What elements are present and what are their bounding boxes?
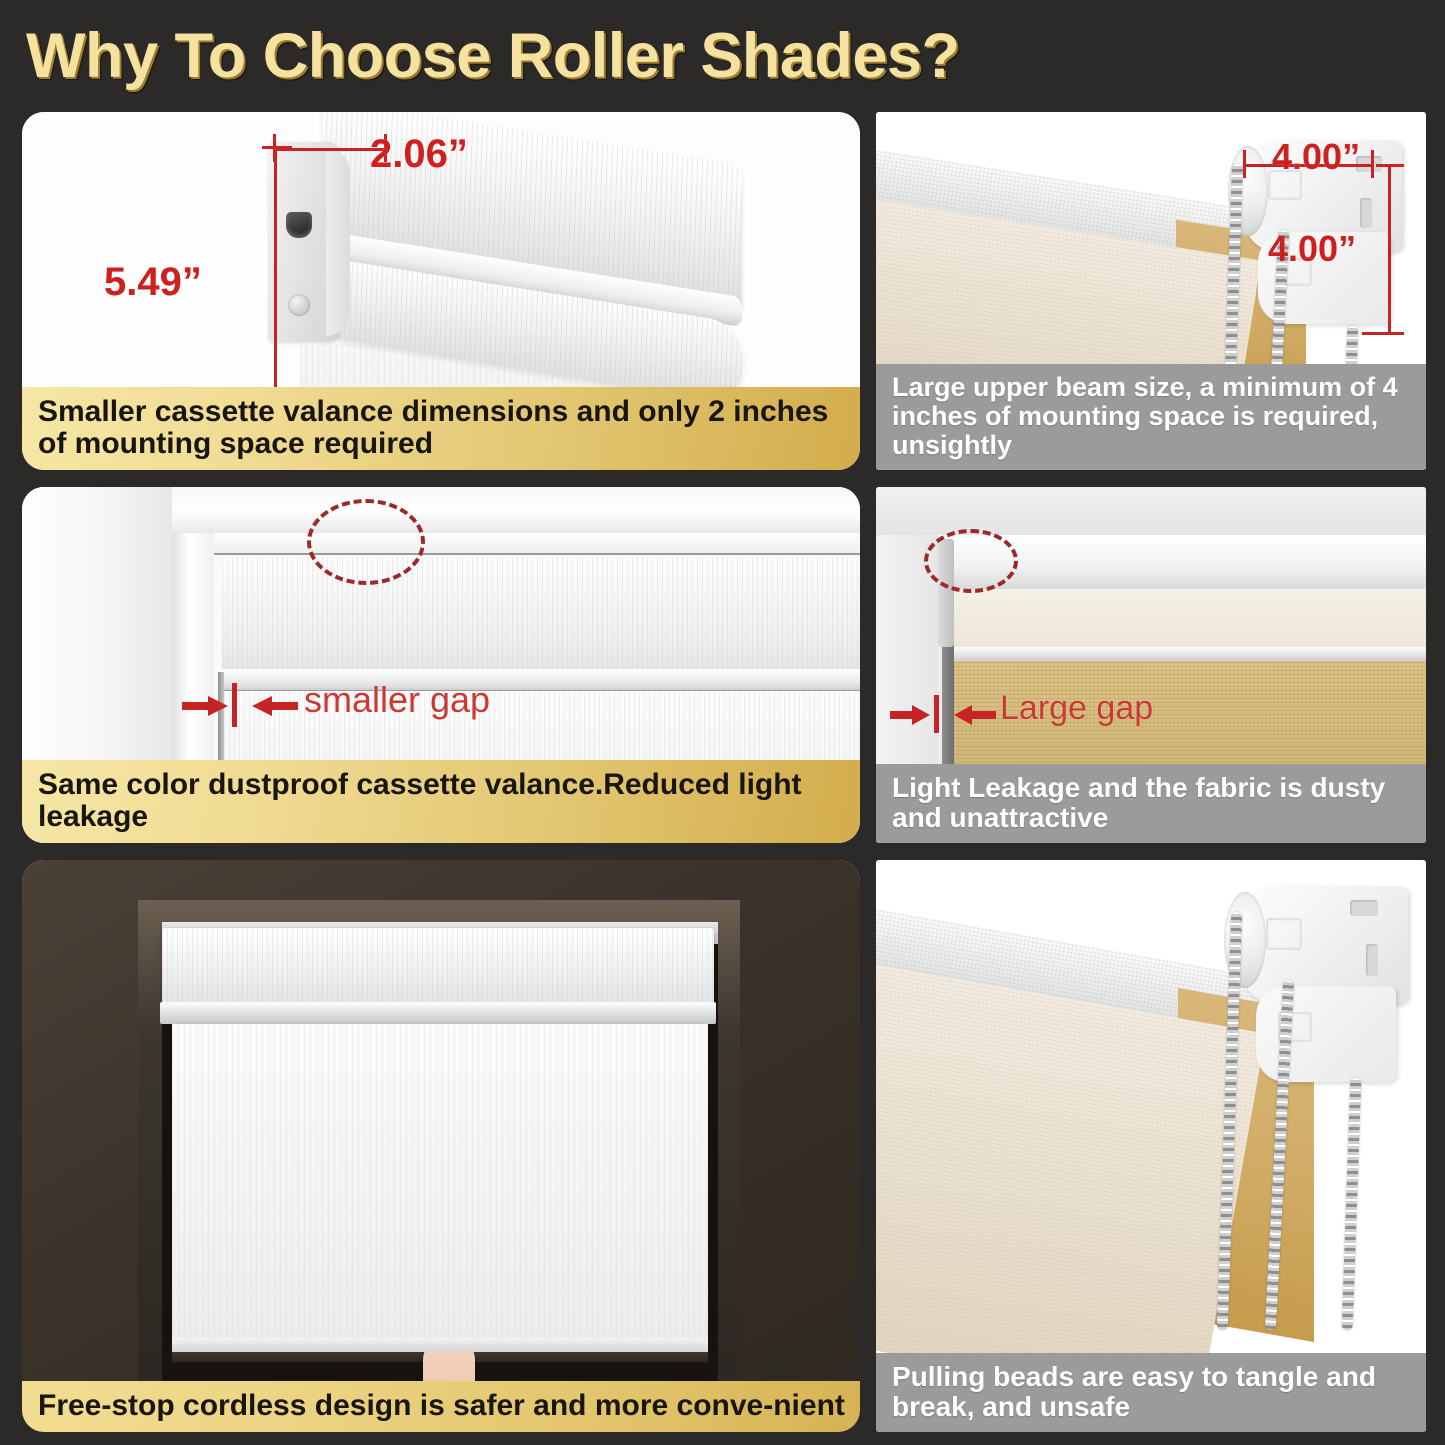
fabric-band-light xyxy=(946,589,1426,649)
photo-cordless-window xyxy=(22,860,860,1432)
endcap-screw-icon xyxy=(288,294,310,316)
panel-pulling-beads: Pulling beads are easy to tangle and bre… xyxy=(876,860,1426,1432)
large-gap-label: Large gap xyxy=(1000,689,1153,728)
beam-width-label: 4.00” xyxy=(1272,136,1360,178)
roller-shade-fabric xyxy=(172,1024,708,1344)
caption-panel-4: Light Leakage and the fabric is dusty an… xyxy=(876,764,1426,843)
highlight-ellipse-icon xyxy=(307,499,425,585)
bead-chain-right xyxy=(1342,1078,1362,1330)
panel-large-upper-beam: 4.00” 4.00” Large upper beam size, a min… xyxy=(876,112,1426,470)
endcap-slot-icon xyxy=(286,212,312,238)
width-dimension-label: 2.06” xyxy=(370,132,468,177)
bracket-slot-b xyxy=(1366,944,1378,976)
beam-width-tick-right xyxy=(1371,150,1374,178)
caption-panel-3: Same color dustproof cassette valance.Re… xyxy=(22,760,860,843)
panel-cordless-design: Free-stop cordless design is safer and m… xyxy=(22,860,860,1432)
mounting-bracket-lower xyxy=(1256,986,1396,1082)
gap-arrow-left-icon xyxy=(890,703,932,727)
valance-endcap xyxy=(268,142,338,342)
gap-arrow-right-icon xyxy=(246,693,298,719)
cassette-valance xyxy=(162,928,714,1010)
smaller-gap-label: smaller gap xyxy=(304,679,490,721)
valance-lip xyxy=(160,1002,716,1024)
bracket-slot-b xyxy=(1360,198,1372,228)
gap-arrow-right-icon xyxy=(948,703,996,727)
caption-panel-2: Large upper beam size, a minimum of 4 in… xyxy=(876,364,1426,470)
height-dim-tick-top xyxy=(262,146,292,149)
shade-fabric-upper xyxy=(222,557,860,669)
caption-panel-5: Free-stop cordless design is safer and m… xyxy=(22,1381,860,1432)
beam-height-label: 4.00” xyxy=(1268,228,1356,270)
highlight-ellipse-icon xyxy=(924,529,1018,593)
panel-dustproof-valance: smaller gap Same color dustproof cassett… xyxy=(22,487,860,843)
comparison-grid: 2.06” 5.49” Smaller cassette valance dim… xyxy=(22,112,1426,1432)
height-dimension-label: 5.49” xyxy=(104,260,202,305)
gap-marker-line xyxy=(232,683,237,727)
beam-width-tick-left xyxy=(1243,150,1246,178)
caption-panel-6: Pulling beads are easy to tangle and bre… xyxy=(876,1353,1426,1432)
photo-bead-chain-shade xyxy=(876,860,1426,1432)
shade-fabric xyxy=(876,962,1266,1408)
beam-height-tick-bottom xyxy=(1362,332,1404,335)
bottom-rail xyxy=(946,647,1426,661)
shade-hem-bar xyxy=(172,1338,708,1352)
panel-light-leakage: Large gap Light Leakage and the fabric i… xyxy=(876,487,1426,843)
beam-height-dim-line xyxy=(1388,166,1391,334)
ceiling-area xyxy=(876,487,1426,535)
panel-smaller-cassette: 2.06” 5.49” Smaller cassette valance dim… xyxy=(22,112,860,470)
gap-arrow-left-icon xyxy=(182,693,230,719)
beam-height-tick-top xyxy=(1376,164,1404,167)
gap-marker-line xyxy=(934,695,939,733)
window-head-trim xyxy=(172,487,860,533)
page-title: Why To Choose Roller Shades? xyxy=(26,18,1226,94)
bracket-emboss-icon xyxy=(1266,918,1302,950)
title-bar: Why To Choose Roller Shades? xyxy=(26,18,1226,94)
caption-panel-1: Smaller cassette valance dimensions and … xyxy=(22,387,860,470)
bracket-slot-a xyxy=(1350,900,1378,916)
